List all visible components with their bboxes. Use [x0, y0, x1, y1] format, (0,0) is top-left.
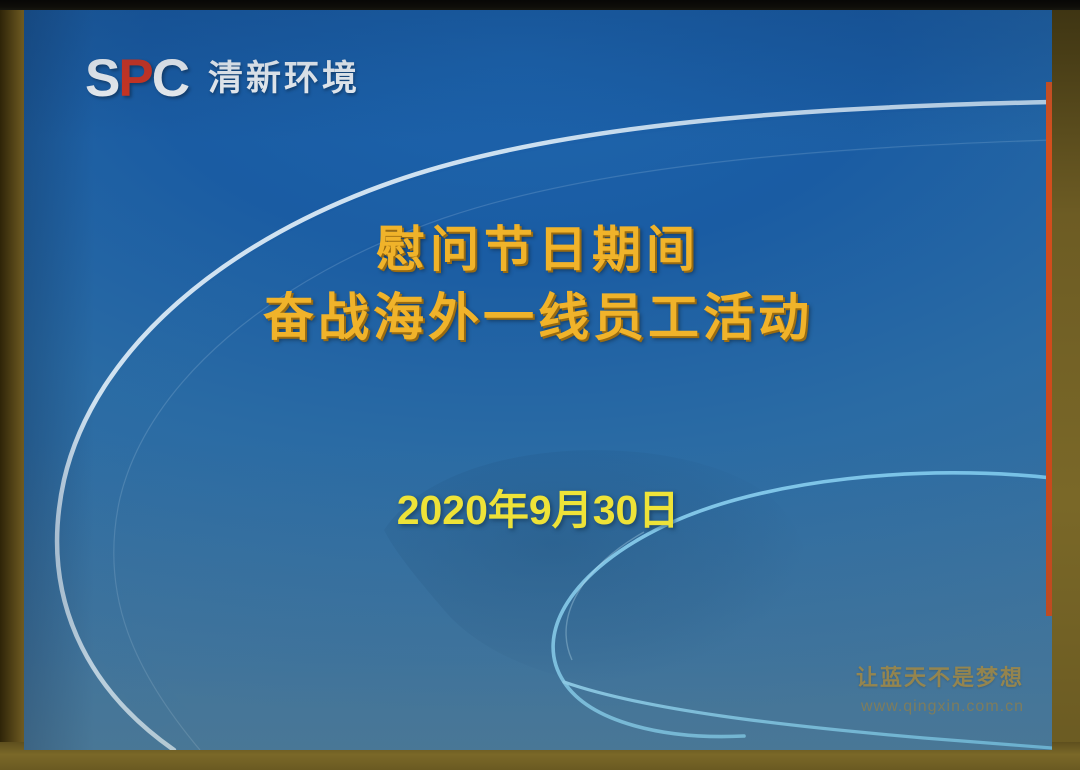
slide-title: 慰问节日期间 奋战海外一线员工活动 [24, 218, 1052, 352]
slide-date: 2020年9月30日 [24, 476, 1052, 536]
slide-footer: 让蓝天不是梦想 www.qingxin.com.cn [856, 661, 1024, 720]
slide-canvas: SPC 清新环境 慰问节日期间 奋战海外一线员工活动 2020年9月30日 让蓝… [24, 10, 1052, 750]
logo-letter-s: S [85, 49, 118, 108]
logo-company-name: 清新环境 [208, 61, 360, 96]
company-logo: SPC 清新环境 [85, 52, 360, 105]
logo-mark-spc: SPC [85, 52, 188, 105]
spiral-ribbon-graphic [24, 10, 1052, 750]
footer-slogan: 让蓝天不是梦想 [856, 661, 1024, 694]
logo-letter-p: P [118, 49, 151, 108]
footer-url: www.qingxin.com.cn [856, 694, 1024, 720]
title-line-1: 慰问节日期间 [24, 218, 1052, 284]
logo-letter-c: C [152, 49, 188, 108]
wall-background-right [1052, 0, 1080, 770]
projected-slide-photo: SPC 清新环境 慰问节日期间 奋战海外一线员工活动 2020年9月30日 让蓝… [0, 0, 1080, 770]
title-line-2: 奋战海外一线员工活动 [24, 284, 1052, 352]
ceiling-dark-strip [0, 0, 1080, 10]
